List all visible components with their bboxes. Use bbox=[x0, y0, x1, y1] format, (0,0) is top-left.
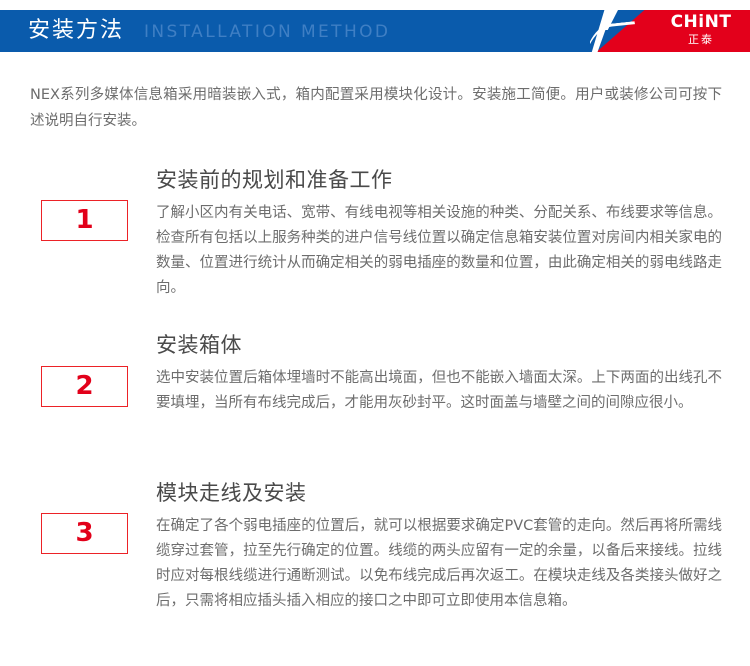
banner-brand-area: CHiNT 正泰 bbox=[590, 10, 750, 52]
step-text-2: 选中安装位置后箱体埋墙时不能高出境面，但也不能嵌入墙面太深。上下两面的出线孔不要… bbox=[156, 366, 722, 416]
step-content-3: 模块走线及安装 在确定了各个弱电插座的位置后，就可以根据要求确定PVC套管的走向… bbox=[156, 478, 722, 614]
step-content-2: 安装箱体 选中安装位置后箱体埋墙时不能高出境面，但也不能嵌入墙面太深。上下两面的… bbox=[156, 330, 722, 416]
step-number-1: 1 bbox=[42, 201, 127, 239]
step-content-1: 安装前的规划和准备工作 了解小区内有关电话、宽带、有线电视等相关设施的种类、分配… bbox=[156, 165, 722, 301]
step-heading-2: 安装箱体 bbox=[156, 330, 722, 360]
chint-logo-chinese-name: 正泰 bbox=[662, 34, 740, 45]
step-heading-1: 安装前的规划和准备工作 bbox=[156, 165, 722, 195]
step-number-box-2: 2 bbox=[41, 366, 128, 407]
page-title: 安装方法 bbox=[28, 15, 124, 47]
installation-method-page: CHiNT 正泰 安装方法 INSTALLATION METHOD NEX系列多… bbox=[0, 0, 750, 666]
chint-logo: CHiNT 正泰 bbox=[662, 14, 740, 45]
chint-logo-wordmark: CHiNT bbox=[662, 14, 740, 31]
step-number-2: 2 bbox=[42, 367, 127, 405]
banner-swoosh-curve-icon bbox=[590, 21, 641, 52]
step-number-box-1: 1 bbox=[41, 200, 128, 241]
step-heading-3: 模块走线及安装 bbox=[156, 478, 722, 508]
intro-paragraph: NEX系列多媒体信息箱采用暗装嵌入式，箱内配置采用模块化设计。安装施工简便。用户… bbox=[30, 82, 722, 134]
step-number-box-3: 3 bbox=[41, 513, 128, 554]
step-text-3: 在确定了各个弱电插座的位置后，就可以根据要求确定PVC套管的走向。然后再将所需线… bbox=[156, 514, 722, 614]
step-text-1: 了解小区内有关电话、宽带、有线电视等相关设施的种类、分配关系、布线要求等信息。检… bbox=[156, 201, 722, 301]
page-title-english: INSTALLATION METHOD bbox=[144, 20, 390, 44]
page-header-banner: CHiNT 正泰 安装方法 INSTALLATION METHOD bbox=[0, 10, 750, 52]
step-number-3: 3 bbox=[42, 514, 127, 552]
